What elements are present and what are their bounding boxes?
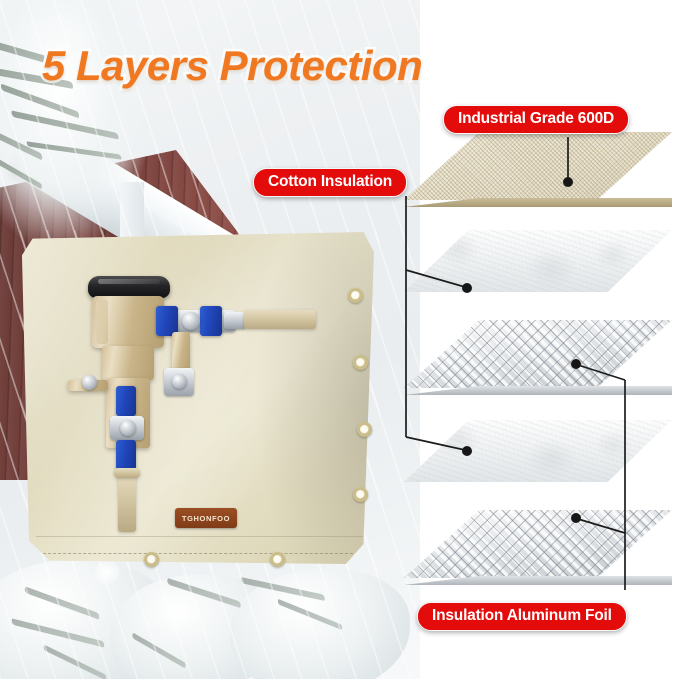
label-aluminum-foil: Insulation Aluminum Foil <box>417 602 627 631</box>
blue-valve-handle <box>200 306 222 336</box>
layer-cotton-lower <box>404 420 672 482</box>
label-cotton-insulation: Cotton Insulation <box>253 168 407 197</box>
chrome-union <box>224 312 246 329</box>
black-valve-cap <box>88 276 170 298</box>
grommet <box>353 487 368 502</box>
chrome-nut <box>182 312 200 330</box>
grommet <box>348 288 363 303</box>
blue-valve-handle <box>116 440 136 470</box>
layer-cotton-upper <box>404 230 672 292</box>
chrome-nut <box>172 374 187 389</box>
foil-surface <box>404 320 672 388</box>
label-industrial-grade: Industrial Grade 600D <box>443 105 629 134</box>
cotton-surface <box>404 230 672 292</box>
page-title: 5 Layers Protection <box>42 42 422 90</box>
grommet <box>270 552 285 567</box>
cover-hem-line <box>36 536 363 538</box>
cover-stitch-line <box>43 553 353 555</box>
layer-stack <box>404 132 679 602</box>
backflow-preventer-assembly <box>60 276 310 526</box>
cotton-surface <box>404 420 672 482</box>
pipe-collar <box>114 468 140 478</box>
grommet <box>353 355 368 370</box>
layer-fabric-600d <box>404 132 672 200</box>
cotton-fibers <box>402 225 674 297</box>
layer-foil-lower <box>404 510 672 578</box>
grommet <box>357 422 372 437</box>
layer-foil-upper <box>404 320 672 388</box>
fabric-surface <box>404 132 672 200</box>
chrome-nut <box>120 420 136 436</box>
brass-tee <box>172 332 190 370</box>
supply-pipe-right <box>244 310 316 329</box>
outlet-pipe <box>118 472 136 532</box>
label-industrial-grade-text: Industrial Grade 600D <box>458 110 614 128</box>
label-aluminum-foil-text: Insulation Aluminum Foil <box>432 607 612 625</box>
grommet <box>144 552 159 567</box>
brass-body-mid <box>102 346 154 380</box>
label-cotton-insulation-text: Cotton Insulation <box>268 173 392 191</box>
blue-valve-handle <box>116 386 136 416</box>
infographic-canvas: TGHONFOO <box>0 0 679 679</box>
cotton-fibers <box>402 415 674 487</box>
foil-surface <box>404 510 672 578</box>
chrome-nut <box>82 375 97 390</box>
